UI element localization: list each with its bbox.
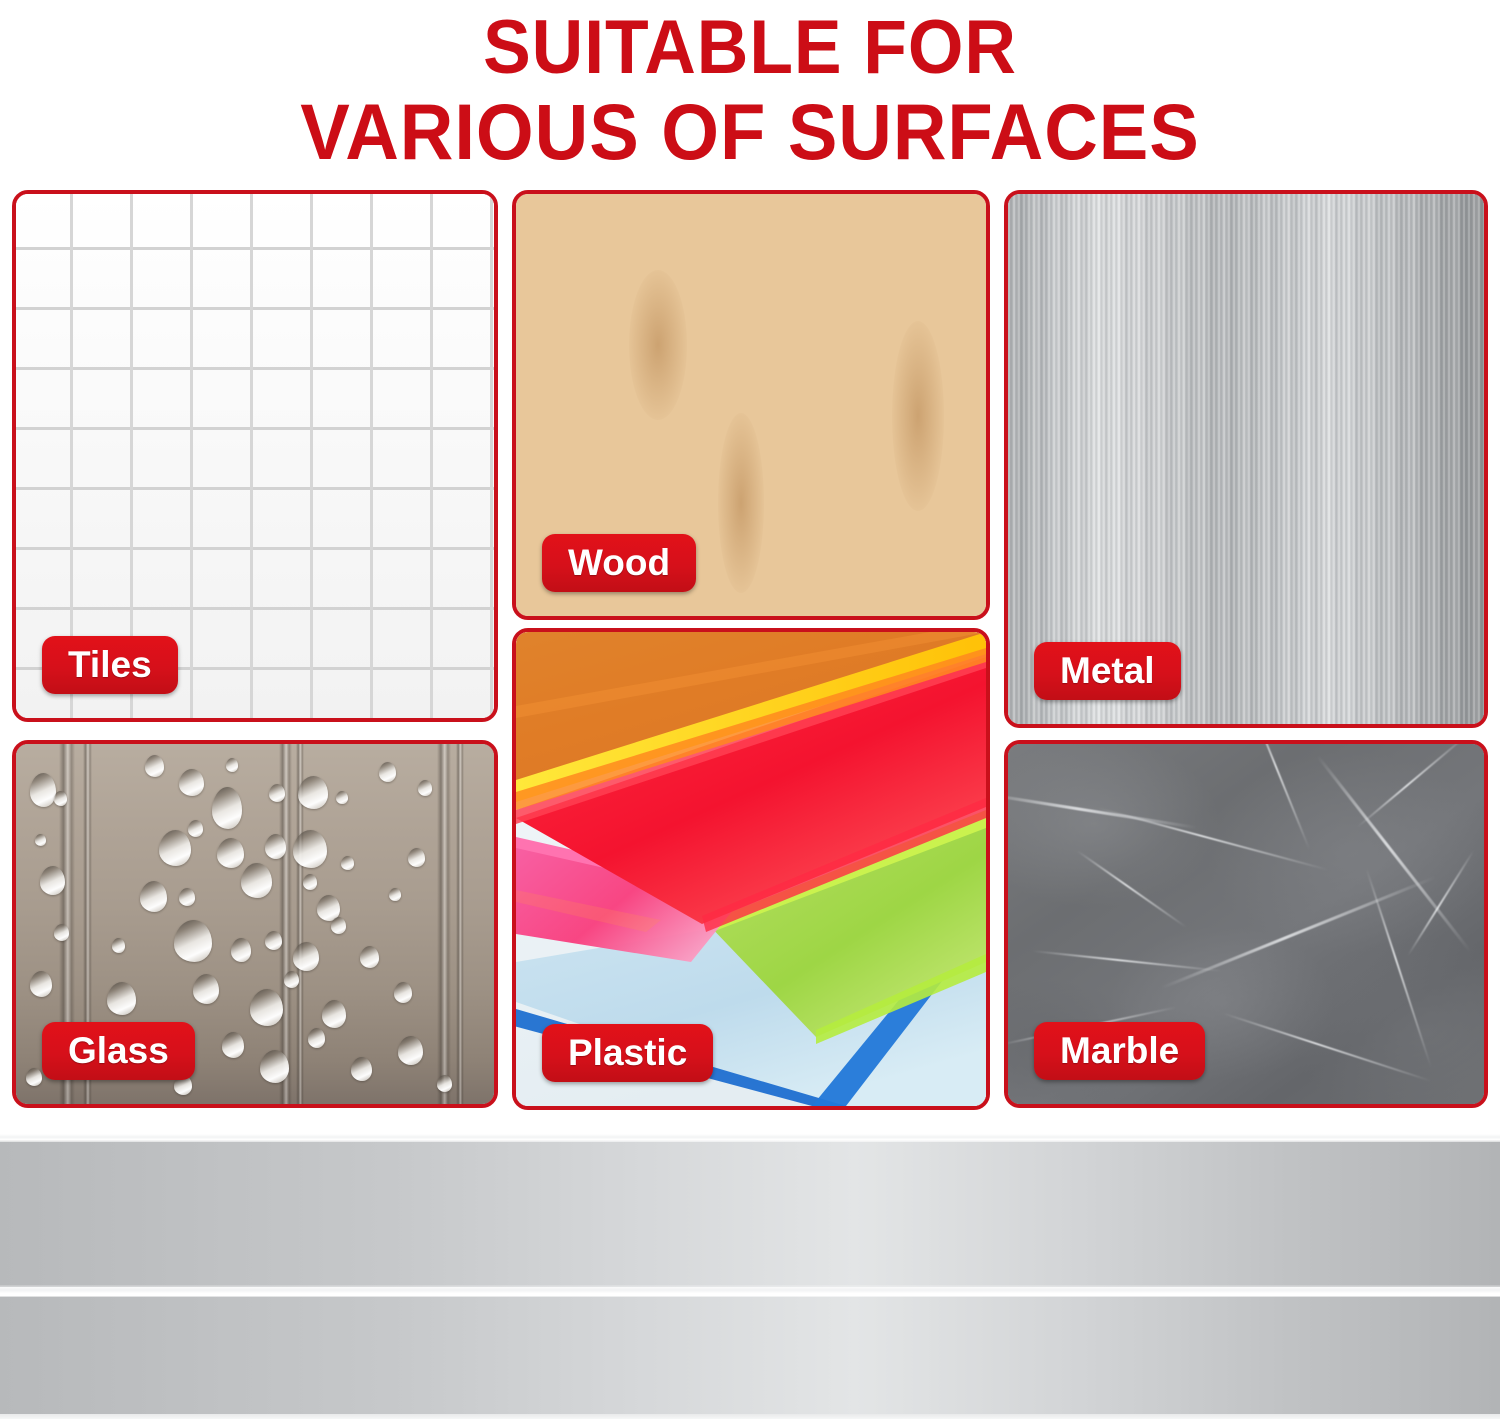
water-droplet — [179, 769, 204, 796]
water-droplet — [188, 820, 203, 837]
wood-grain-knot — [629, 270, 687, 420]
water-droplet — [217, 838, 244, 868]
water-droplet — [303, 874, 317, 890]
water-droplet — [360, 946, 379, 968]
water-droplet — [308, 1028, 325, 1048]
water-droplet — [250, 989, 283, 1026]
water-droplet — [212, 787, 242, 829]
water-droplet — [112, 938, 125, 953]
surface-panel-marble: Marble — [1004, 740, 1488, 1108]
page-title-line-2: VARIOUS OF SURFACES — [45, 90, 1455, 174]
water-droplet — [30, 773, 56, 807]
panel-label-plastic: Plastic — [542, 1024, 713, 1082]
surface-panel-glass: Glass — [12, 740, 498, 1108]
water-droplet — [408, 848, 425, 867]
water-droplet — [265, 834, 286, 859]
water-droplet — [269, 784, 285, 802]
page-title-line-1: SUITABLE FOR — [45, 6, 1455, 90]
water-droplet — [260, 1050, 289, 1083]
marble-vein — [1248, 744, 1310, 849]
water-droplet — [107, 982, 136, 1015]
surface-panel-metal: Metal — [1004, 190, 1488, 728]
surface-panel-tiles: Tiles — [12, 190, 498, 722]
marble-vein — [1357, 744, 1468, 828]
water-droplet — [394, 982, 412, 1003]
water-droplet — [336, 791, 348, 804]
water-droplet — [298, 776, 328, 809]
water-droplet — [379, 762, 396, 782]
marble-vein — [1408, 850, 1475, 956]
marble-vein — [1161, 876, 1436, 989]
water-droplet — [145, 755, 164, 777]
water-droplet — [265, 931, 282, 950]
marble-vein — [1032, 950, 1222, 972]
panel-label-tiles: Tiles — [42, 636, 178, 694]
water-droplet — [231, 938, 251, 962]
water-droplet — [398, 1036, 423, 1065]
surface-panel-grid: Tiles Wood Metal — [0, 182, 1500, 1120]
water-droplet — [159, 830, 191, 866]
water-droplet — [54, 924, 69, 941]
wood-grain-knot — [892, 321, 944, 511]
water-droplet — [35, 834, 46, 846]
water-droplet — [40, 866, 65, 895]
water-droplet — [226, 758, 238, 772]
strip-panel-upper — [0, 1140, 1500, 1287]
wood-grain-knot — [718, 413, 764, 593]
water-droplet — [293, 942, 319, 971]
water-drip-streak — [437, 744, 451, 1104]
panel-label-wood: Wood — [542, 534, 696, 592]
water-droplet — [30, 971, 52, 997]
marble-vein — [1077, 850, 1187, 928]
panel-label-glass: Glass — [42, 1022, 195, 1080]
water-droplet — [437, 1075, 452, 1092]
water-droplet — [54, 791, 67, 806]
water-droplet — [193, 974, 219, 1004]
water-droplet — [284, 971, 299, 988]
strip-seam-bottom — [0, 1414, 1500, 1419]
water-droplet — [293, 830, 327, 868]
water-droplet — [351, 1057, 372, 1081]
water-droplet — [241, 863, 272, 898]
water-droplet — [418, 780, 432, 796]
water-droplet — [222, 1032, 244, 1058]
marble-vein — [1365, 868, 1432, 1068]
marble-vein — [1097, 807, 1327, 871]
strip-panel-lower — [0, 1296, 1500, 1419]
water-droplet — [322, 1000, 346, 1028]
surface-panel-plastic: Plastic — [512, 628, 990, 1110]
water-drip-streak — [456, 744, 464, 1104]
water-droplet — [341, 856, 354, 870]
page-title: SUITABLE FOR VARIOUS OF SURFACES — [0, 0, 1500, 182]
strip-seam-top — [0, 1134, 1500, 1142]
surface-panel-wood: Wood — [512, 190, 990, 620]
water-droplet — [389, 888, 401, 901]
strip-seam-middle — [0, 1285, 1500, 1297]
water-droplet — [179, 888, 195, 906]
panel-label-metal: Metal — [1034, 642, 1181, 700]
marble-vein — [1316, 755, 1471, 952]
water-droplet — [26, 1068, 42, 1086]
water-droplet — [331, 917, 346, 934]
water-droplet — [140, 881, 167, 912]
panel-label-marble: Marble — [1034, 1022, 1205, 1080]
water-droplet — [174, 920, 212, 962]
bottom-metal-strip — [0, 1128, 1500, 1419]
marble-vein — [1222, 1013, 1431, 1083]
